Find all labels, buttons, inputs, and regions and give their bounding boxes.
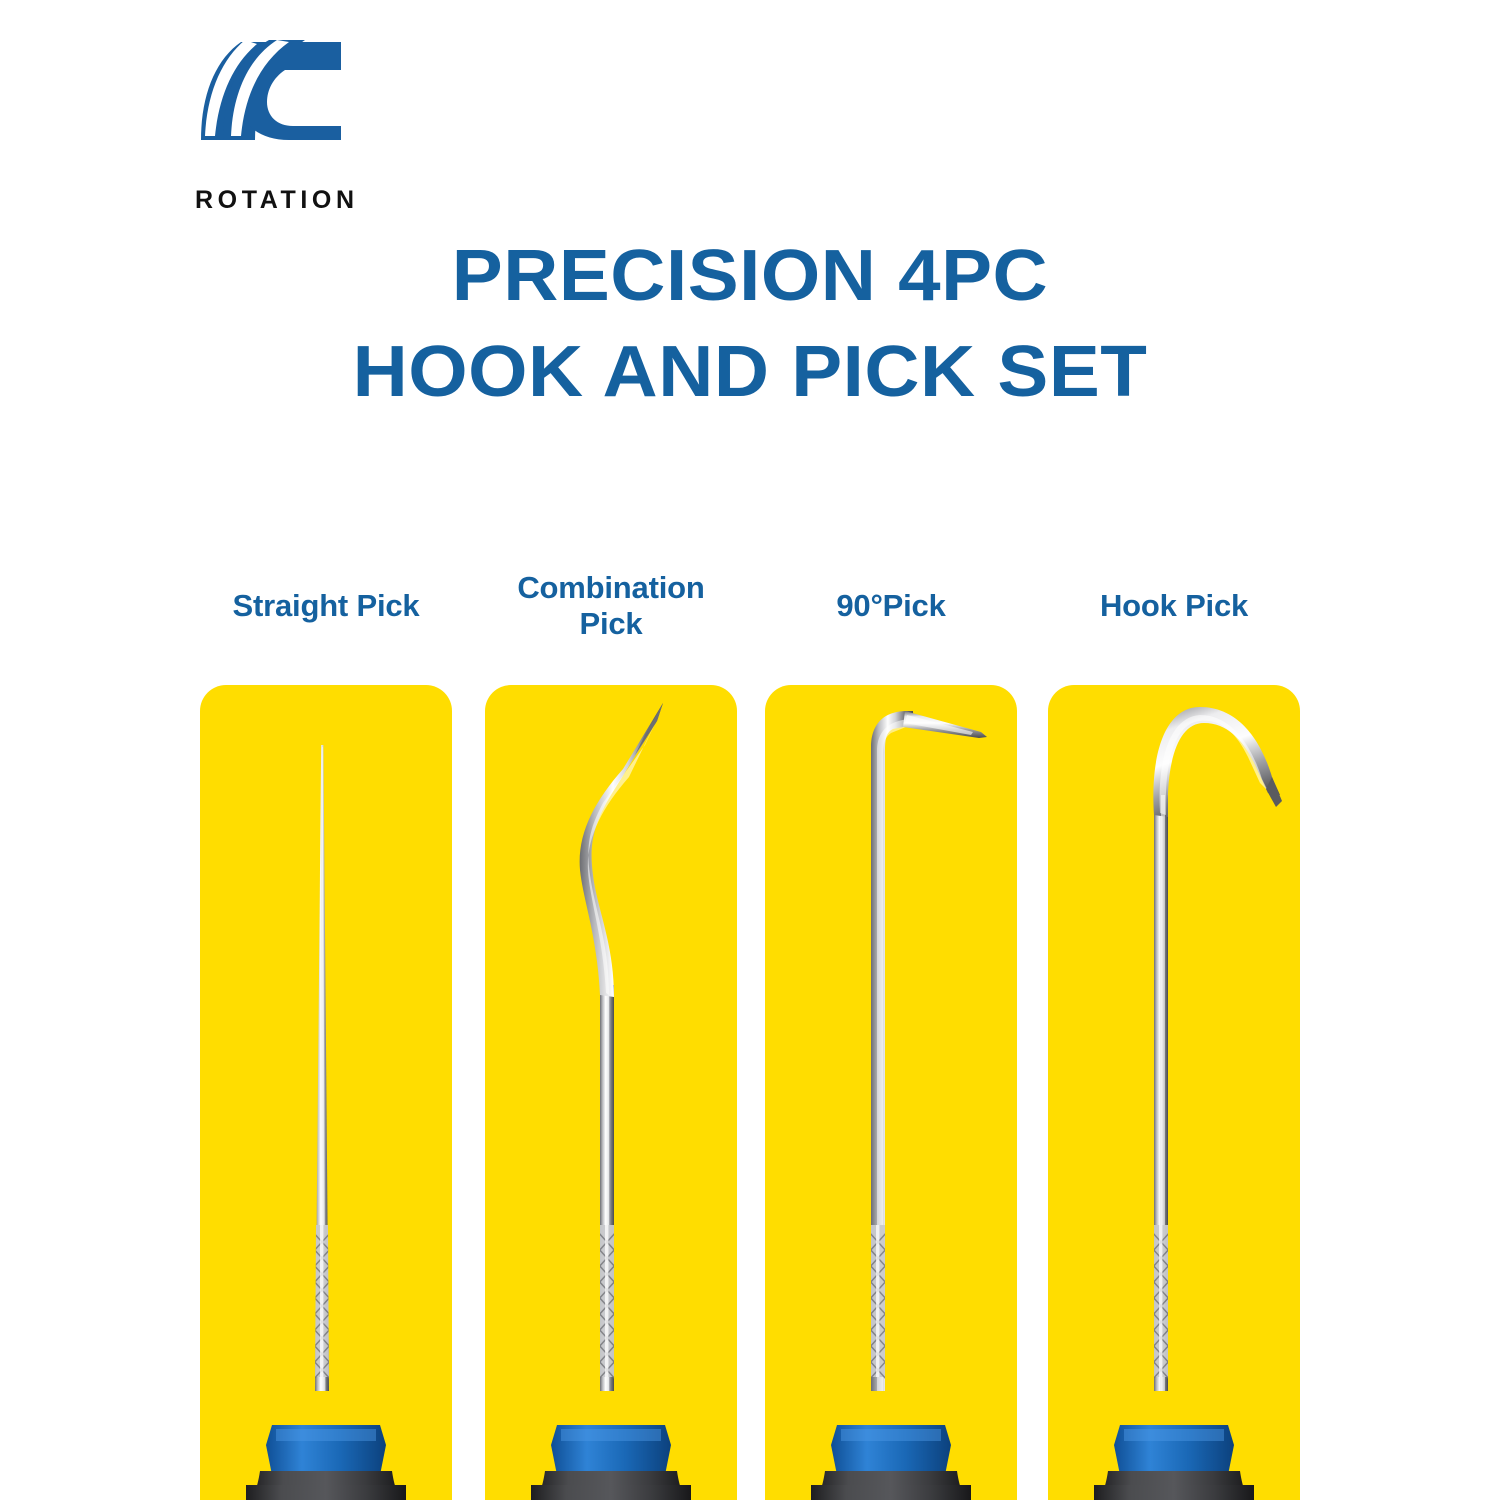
product-card-combination-pick: Combination Pick xyxy=(485,588,737,1500)
right-angle-tip-icon xyxy=(765,685,1017,1500)
product-infographic: ROTATION PRECISION 4PC HOOK AND PICK SET… xyxy=(0,0,1500,1500)
product-card-hook-pick: Hook Pick xyxy=(1048,588,1300,1500)
product-label-line-1: Combination xyxy=(517,570,704,605)
product-label-combination-pick: Combination Pick xyxy=(467,570,755,642)
brand-logo: ROTATION xyxy=(193,36,393,186)
product-card-straight-pick: Straight Pick xyxy=(200,588,452,1500)
straight-needle-tip-icon xyxy=(200,685,452,1500)
card-panel-straight-pick xyxy=(200,685,452,1500)
title-line-1: PRECISION 4PC xyxy=(0,228,1500,324)
product-label-line-2: Pick xyxy=(580,606,643,641)
product-card-ninety-degree-pick: 90°Pick xyxy=(765,588,1017,1500)
card-panel-hook-pick xyxy=(1048,685,1300,1500)
card-panel-ninety-degree-pick xyxy=(765,685,1017,1500)
card-panel-combination-pick xyxy=(485,685,737,1500)
title-line-2: HOOK AND PICK SET xyxy=(0,324,1500,420)
hook-curve-tip-icon xyxy=(1048,685,1300,1500)
rotation-wave-c-logo-icon xyxy=(193,36,345,144)
page-title: PRECISION 4PC HOOK AND PICK SET xyxy=(0,228,1500,420)
product-cards-row: Straight Pick xyxy=(200,588,1300,1500)
brand-wordmark: ROTATION xyxy=(195,188,359,213)
product-label-ninety-degree-pick: 90°Pick xyxy=(747,588,1035,624)
s-curve-bent-tip-icon xyxy=(485,685,737,1500)
product-label-hook-pick: Hook Pick xyxy=(1030,588,1318,624)
product-label-straight-pick: Straight Pick xyxy=(182,588,470,624)
